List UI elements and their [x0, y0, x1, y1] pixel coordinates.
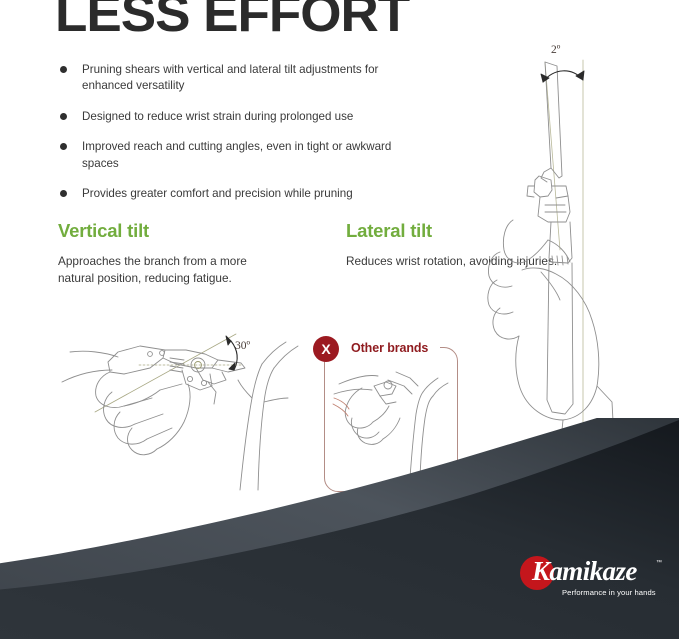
- page-title: LESS EFFORT: [55, 0, 409, 40]
- bullet-dot-icon: [60, 143, 67, 150]
- section-heading: Vertical tilt: [58, 222, 273, 241]
- list-item: Pruning shears with vertical and lateral…: [58, 62, 403, 95]
- logo-wordmark: Kamikaze: [532, 558, 637, 585]
- angle-label-2deg: 2º: [551, 44, 560, 56]
- section-lateral-tilt: Lateral tilt Reduces wrist rotation, avo…: [346, 222, 561, 270]
- list-item-label: Pruning shears with vertical and lateral…: [82, 63, 378, 92]
- feature-bullet-list: Pruning shears with vertical and lateral…: [58, 62, 403, 203]
- angle-label-30deg: 30º: [235, 340, 250, 352]
- logo-tagline: Performance in your hands: [562, 588, 656, 597]
- section-heading: Lateral tilt: [346, 222, 561, 241]
- list-item-label: Designed to reduce wrist strain during p…: [82, 110, 353, 123]
- cross-badge-icon: X: [313, 336, 339, 362]
- list-item-label: Provides greater comfort and precision w…: [82, 187, 353, 200]
- bullet-dot-icon: [60, 66, 67, 73]
- bullet-dot-icon: [60, 190, 67, 197]
- trademark-icon: ™: [656, 560, 662, 566]
- brand-logo: Kamikaze ™ Performance in your hands: [520, 556, 668, 606]
- bullet-dot-icon: [60, 113, 67, 120]
- product-feature-graphic: LESS EFFORT Pruning shears with vertical…: [0, 0, 679, 639]
- list-item: Designed to reduce wrist strain during p…: [58, 109, 403, 125]
- list-item: Provides greater comfort and precision w…: [58, 186, 403, 202]
- section-vertical-tilt: Vertical tilt Approaches the branch from…: [58, 222, 273, 287]
- other-brands-title: Other brands: [351, 341, 428, 355]
- section-body: Approaches the branch from a more natura…: [58, 253, 273, 287]
- list-item: Improved reach and cutting angles, even …: [58, 139, 403, 172]
- angle-indicator-2deg: [541, 71, 584, 82]
- section-body: Reduces wrist rotation, avoiding injurie…: [346, 253, 561, 270]
- list-item-label: Improved reach and cutting angles, even …: [82, 140, 391, 169]
